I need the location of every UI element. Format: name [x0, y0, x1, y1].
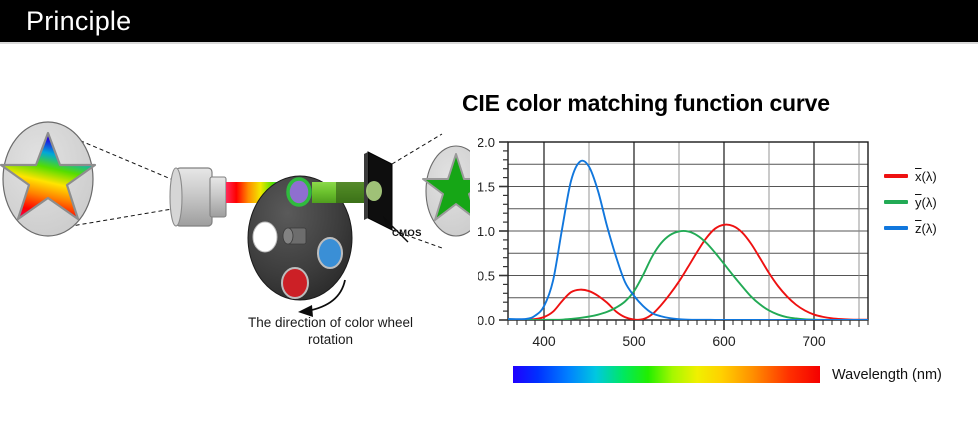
chart-title: CIE color matching function curve [462, 90, 962, 117]
chart-legend: x(λ) y(λ) z(λ) [884, 163, 976, 241]
cmos-label: CMOS [392, 228, 422, 239]
output-object [423, 146, 470, 236]
cie-color-matching-chart: 0.00.51.01.52.0400500600700 [478, 138, 878, 348]
y-tick-label: 1.0 [478, 224, 495, 239]
y-tick-label: 0.5 [478, 269, 495, 284]
header-divider [0, 42, 978, 44]
rotation-caption: The direction of color wheel rotation [233, 314, 428, 348]
source-object [1, 122, 95, 236]
legend-item-x: x(λ) [884, 163, 976, 189]
header-bar [0, 0, 978, 42]
spectrum-gradient-bar [513, 366, 820, 383]
wheel-blue-filter [318, 238, 342, 268]
legend-item-y: y(λ) [884, 189, 976, 215]
legend-swatch-x [884, 174, 908, 178]
wheel-red-filter [282, 268, 308, 298]
x-tick-label: 500 [622, 333, 646, 348]
legend-swatch-z [884, 226, 908, 230]
wavelength-axis-label: Wavelength (nm) [832, 367, 942, 383]
legend-swatch-y [884, 200, 908, 204]
x-tick-label: 700 [802, 333, 826, 348]
spectrum-legend: Wavelength (nm) [513, 366, 942, 383]
wheel-green-filter [288, 179, 310, 205]
x-tick-label: 400 [532, 333, 556, 348]
cmos-sensor [364, 152, 392, 230]
legend-label-y: y(λ) [915, 195, 937, 210]
legend-item-z: z(λ) [884, 215, 976, 241]
lens-assembly [170, 168, 226, 226]
legend-label-z: z(λ) [915, 221, 937, 236]
wheel-hub [283, 228, 306, 244]
legend-label-x: x(λ) [915, 169, 937, 184]
y-tick-label: 1.5 [478, 180, 495, 195]
y-tick-label: 2.0 [478, 138, 495, 150]
x-tick-label: 600 [712, 333, 736, 348]
page-title: Principle [26, 4, 131, 38]
wheel-white-filter [253, 222, 277, 252]
y-tick-label: 0.0 [478, 313, 495, 328]
